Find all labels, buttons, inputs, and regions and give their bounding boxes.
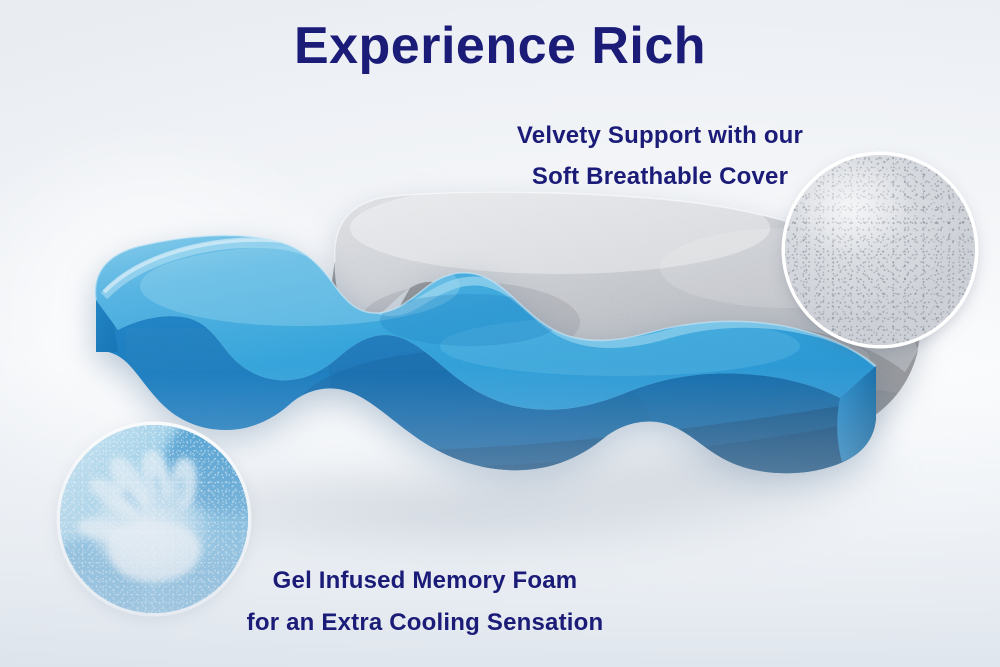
page-title: Experience Rich xyxy=(0,16,1000,76)
gel-caption-line1: Gel Infused Memory Foam xyxy=(140,560,710,602)
gel-caption: Gel Infused Memory Foam for an Extra Coo… xyxy=(140,560,710,644)
cover-caption-line1: Velvety Support with our xyxy=(430,115,890,156)
product-marketing-image: Experience Rich Velvety Support with our… xyxy=(0,0,1000,667)
cover-caption: Velvety Support with our Soft Breathable… xyxy=(430,115,890,197)
gel-caption-line2: for an Extra Cooling Sensation xyxy=(140,602,710,644)
cover-caption-line2: Soft Breathable Cover xyxy=(430,156,890,197)
